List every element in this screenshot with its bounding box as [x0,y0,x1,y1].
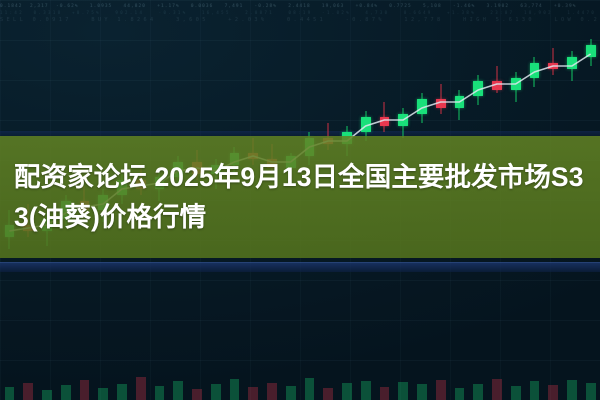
headline-band: 配资家论坛 2025年9月13日全国主要批发市场S33(油葵)价格行情 [0,136,600,258]
page-title: 配资家论坛 2025年9月13日全国主要批发市场S33(油葵)价格行情 [0,157,600,237]
article-thumbnail-card: 0.1842 2,317 -0.62% 1.0935 44,820 +1.17%… [0,0,600,400]
headline-line-2: 3(油葵)价格行情 [14,202,206,232]
headline-line-1: 配资家论坛 2025年9月13日全国主要批发市场S3 [14,162,584,192]
